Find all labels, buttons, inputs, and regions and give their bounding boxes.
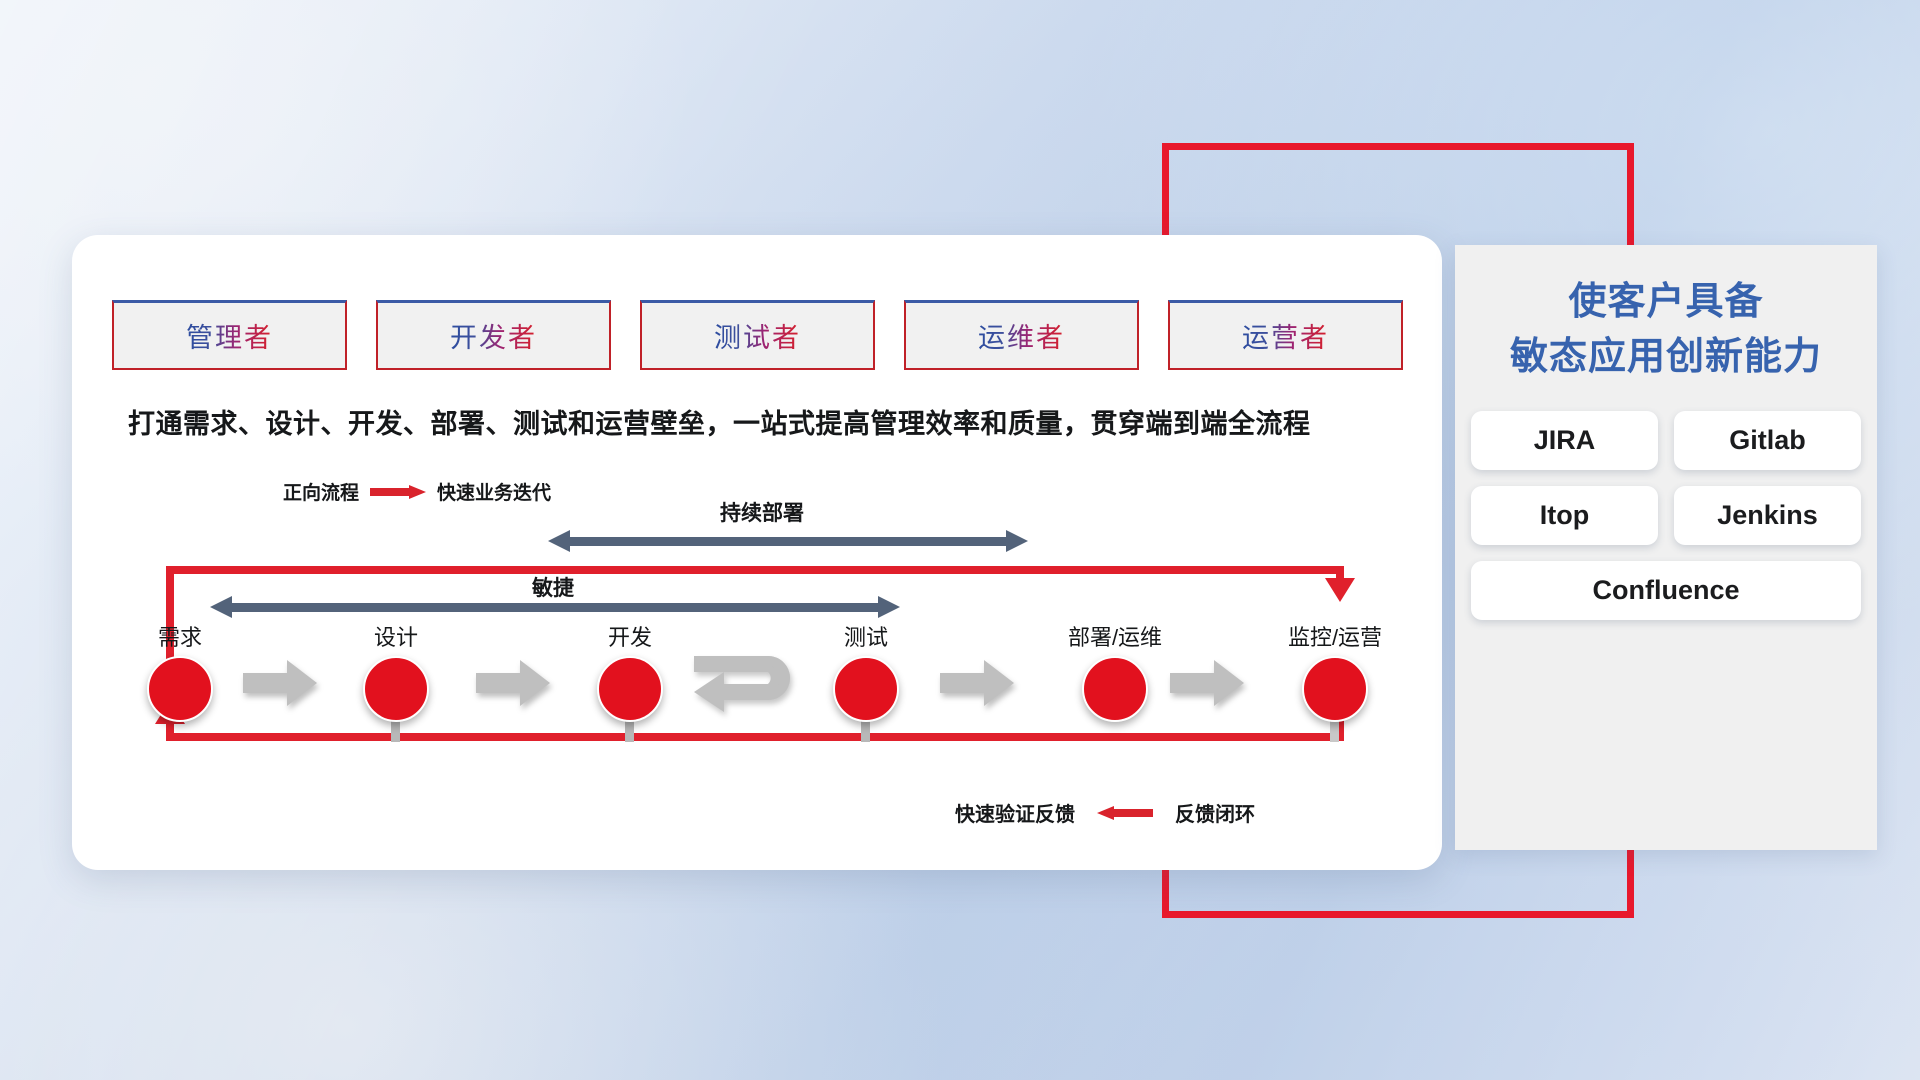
arrow-head-left-icon	[548, 530, 570, 552]
capability-panel: 使客户具备 敏态应用创新能力 JIRA Gitlab Itop Jenkins …	[1455, 245, 1877, 850]
arrow-bar	[568, 537, 1008, 546]
panel-title-line1: 使客户具备	[1455, 275, 1877, 330]
stage-dot-icon	[363, 656, 429, 722]
double-headed-arrow-agile	[210, 596, 900, 618]
role-label: 开发者	[450, 316, 537, 355]
role-box-row: 管理者 开发者 测试者 运维者 运营者	[112, 300, 1403, 370]
page-headline: 打通需求、设计、开发、部署、测试和运营壁垒，一站式提高管理效率和质量，贯穿端到端…	[128, 402, 1428, 441]
stage-test[interactable]: 测试	[816, 620, 916, 722]
legend-forward-right-text: 快速业务迭代	[437, 478, 551, 505]
role-box-operations[interactable]: 运营者	[1168, 300, 1403, 370]
arrow-head-right-icon	[1006, 530, 1028, 552]
stage-label: 测试	[816, 620, 916, 652]
red-arrow-left-icon	[1097, 806, 1153, 819]
arrow-head-right-icon	[878, 596, 900, 618]
stage-requirement[interactable]: 需求	[130, 620, 230, 722]
stage-label: 设计	[346, 620, 446, 652]
flow-arrow-test-to-deploy-icon	[940, 660, 1014, 706]
span-label-continuous-deployment: 持续部署	[720, 497, 804, 527]
panel-title: 使客户具备 敏态应用创新能力	[1455, 275, 1877, 385]
stage-dot-icon	[1302, 656, 1368, 722]
tool-chip-confluence[interactable]: Confluence	[1471, 561, 1861, 620]
role-box-manager[interactable]: 管理者	[112, 300, 347, 370]
feedback-loop-arrow-down-icon	[1325, 578, 1355, 602]
tool-chip-gitlab[interactable]: Gitlab	[1674, 411, 1861, 470]
tool-chip-jira[interactable]: JIRA	[1471, 411, 1658, 470]
stage-monitor-operations[interactable]: 监控/运营	[1250, 620, 1420, 722]
tool-chip-list: JIRA Gitlab Itop Jenkins Confluence	[1455, 411, 1877, 620]
role-label: 管理者	[186, 316, 273, 355]
legend-feedback-left-text: 快速验证反馈	[955, 798, 1075, 827]
flow-arrow-design-to-development-icon	[476, 660, 550, 706]
role-label: 测试者	[714, 316, 801, 355]
role-label: 运营者	[1242, 316, 1329, 355]
feedback-loop-bottom-line	[166, 733, 1344, 741]
legend-feedback-loop: 快速验证反馈 反馈闭环	[955, 798, 1255, 827]
tool-chip-jenkins[interactable]: Jenkins	[1674, 486, 1861, 545]
stage-design[interactable]: 设计	[346, 620, 446, 722]
stage-dot-icon	[1082, 656, 1148, 722]
stage-dot-icon	[147, 656, 213, 722]
iteration-loop-arrow-icon	[694, 650, 804, 712]
legend-feedback-right-text: 反馈闭环	[1175, 798, 1255, 827]
stage-label: 监控/运营	[1250, 620, 1420, 652]
stage-dot-icon	[833, 656, 899, 722]
stage-label: 开发	[580, 620, 680, 652]
stage-label: 部署/运维	[1030, 620, 1200, 652]
arrow-bar	[230, 603, 880, 612]
stage-development[interactable]: 开发	[580, 620, 680, 722]
flow-arrow-deploy-to-monitor-icon	[1170, 660, 1244, 706]
legend-forward-flow: 正向流程 快速业务迭代	[283, 478, 551, 505]
red-arrow-right-icon	[370, 485, 426, 498]
role-label: 运维者	[978, 316, 1065, 355]
legend-forward-left-text: 正向流程	[283, 478, 359, 505]
flow-arrow-requirement-to-design-icon	[243, 660, 317, 706]
arrow-head-left-icon	[210, 596, 232, 618]
tool-chip-itop[interactable]: Itop	[1471, 486, 1658, 545]
role-box-tester[interactable]: 测试者	[640, 300, 875, 370]
double-headed-arrow-continuous-deployment	[548, 530, 1028, 552]
feedback-loop-top-line	[166, 566, 1344, 574]
panel-title-line2: 敏态应用创新能力	[1455, 330, 1877, 385]
stage-dot-icon	[597, 656, 663, 722]
stage-label: 需求	[130, 620, 230, 652]
role-box-developer[interactable]: 开发者	[376, 300, 611, 370]
role-box-ops[interactable]: 运维者	[904, 300, 1139, 370]
